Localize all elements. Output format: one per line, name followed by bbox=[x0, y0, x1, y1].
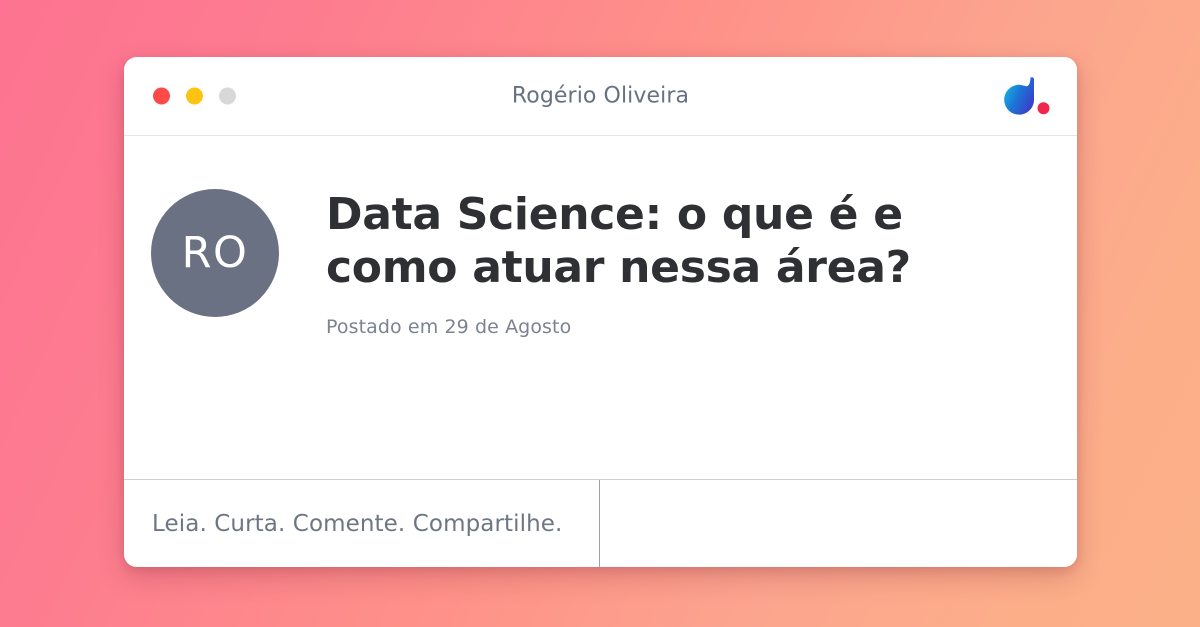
post-headline: Data Science: o que é e como atuar nessa… bbox=[326, 188, 1026, 294]
post-text-block: Data Science: o que é e como atuar nessa… bbox=[279, 184, 1037, 338]
footer-tagline: Leia. Curta. Comente. Compartilhe. bbox=[152, 511, 562, 537]
avatar: RO bbox=[151, 189, 279, 317]
footer-left-cell: Leia. Curta. Comente. Compartilhe. bbox=[124, 480, 600, 567]
post-date: Postado em 29 de Agosto bbox=[326, 316, 1037, 338]
footer-right-cell bbox=[600, 480, 1077, 567]
browser-window-card: Rogério Oliveira RO Data Science: o que … bbox=[124, 57, 1077, 567]
window-titlebar: Rogério Oliveira bbox=[124, 57, 1077, 136]
droplet-logo-icon bbox=[999, 73, 1055, 119]
card-footer: Leia. Curta. Comente. Compartilhe. bbox=[124, 479, 1077, 567]
window-title: Rogério Oliveira bbox=[124, 84, 1077, 109]
post-body: RO Data Science: o que é e como atuar ne… bbox=[124, 136, 1077, 479]
